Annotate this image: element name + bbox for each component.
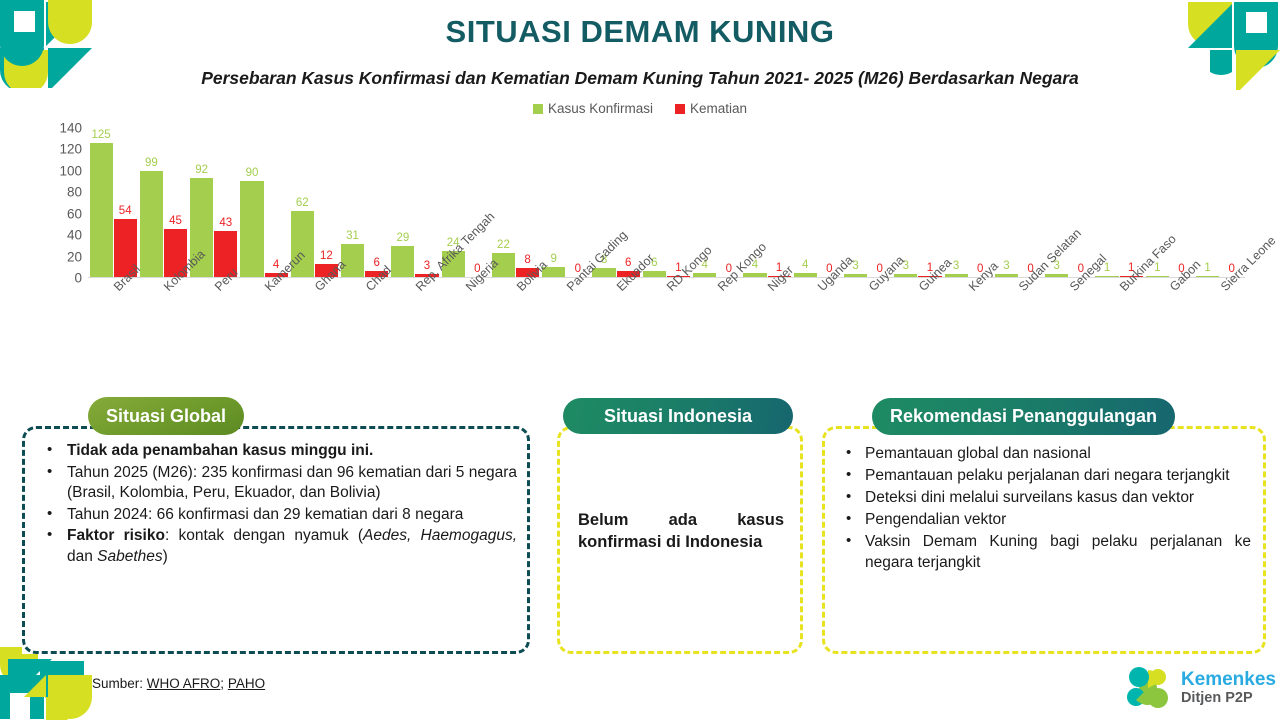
bar-confirmed[interactable]: 4: [794, 128, 817, 277]
x-axis-category: Kenya: [943, 280, 993, 366]
info-box-global-item: Tidak ada penambahan kasus minggu ini.: [39, 441, 517, 462]
bar-rect: [391, 246, 414, 277]
x-axis-category: Rep Kongo: [692, 280, 742, 366]
y-axis-tick: 100: [40, 163, 82, 178]
bar-deaths[interactable]: 0: [566, 128, 589, 277]
info-box-situasi-indonesia: Belum ada kasus konfirmasi di Indonesia …: [557, 426, 803, 654]
legend-item-deaths[interactable]: Kematian: [675, 101, 747, 116]
bar-value-label: 125: [91, 129, 110, 142]
bar-deaths[interactable]: 0: [1170, 128, 1193, 277]
bar-deaths[interactable]: 3: [415, 128, 438, 277]
bar-deaths[interactable]: 0: [717, 128, 740, 277]
item-plain-text: Tahun 2025 (M26): 235 konfirmasi dan 96 …: [67, 464, 517, 502]
info-box-global-body: Tidak ada penambahan kasus minggu ini.Ta…: [22, 426, 530, 654]
chart-category-group: 30: [842, 128, 892, 277]
bar-rect: [90, 143, 113, 277]
item-plain-text: ): [163, 548, 168, 565]
source-link-paho[interactable]: PAHO: [228, 676, 265, 691]
kemenkes-unit: Ditjen P2P: [1181, 691, 1276, 706]
item-italic-text: Aedes,: [363, 527, 411, 544]
x-axis-category: Brasil: [88, 280, 138, 366]
chart-category-group: 30: [943, 128, 993, 277]
chart-category-group: 31: [893, 128, 943, 277]
chart-category-group: 10: [1195, 128, 1245, 277]
bar-deaths[interactable]: 8: [516, 128, 539, 277]
y-axis-tick: 40: [40, 228, 82, 243]
bar-rect: [341, 244, 364, 277]
bar-rect: [240, 181, 263, 277]
bar-confirmed[interactable]: 1: [1196, 128, 1219, 277]
item-plain-text: Tahun 2024: 66 konfirmasi dan 29 kematia…: [67, 506, 463, 523]
bar-rect: [693, 273, 716, 277]
bar-rect: [1045, 274, 1068, 277]
bar-confirmed[interactable]: 22: [492, 128, 515, 277]
chart-category-group: 228: [490, 128, 540, 277]
x-axis: BrasilKolombiaPeruKamerunGhanaChadRep. A…: [88, 280, 1245, 366]
x-axis-category: Pantai Gading: [541, 280, 591, 366]
info-box-global-header: Situasi Global: [88, 397, 244, 435]
bar-deaths[interactable]: 1: [918, 128, 941, 277]
x-axis-category: Nigeria: [440, 280, 490, 366]
bar-value-label: 45: [169, 215, 182, 228]
kemenkes-name: Kemenkes: [1181, 670, 1276, 689]
bar-confirmed[interactable]: 9: [542, 128, 565, 277]
bar-value-label: 29: [396, 232, 409, 245]
page-title: SITUASI DEMAM KUNING: [0, 14, 1280, 50]
info-box-indonesia-text: Belum ada kasus konfirmasi di Indonesia: [578, 509, 784, 553]
bar-deaths[interactable]: 54: [114, 128, 137, 277]
item-plain-text: : kontak dengan nyamuk: [165, 527, 358, 544]
bar-deaths[interactable]: 4: [265, 128, 288, 277]
info-box-global-item: Tahun 2024: 66 konfirmasi dan 29 kematia…: [39, 505, 517, 526]
bar-value-label: 62: [296, 197, 309, 210]
bar-deaths[interactable]: 0: [818, 128, 841, 277]
x-axis-category: Uganda: [792, 280, 842, 366]
bar-rect: [894, 274, 917, 277]
info-box-rekomendasi-list: Pemantauan global dan nasionalPemantauan…: [837, 443, 1251, 573]
chart-category-group: 9945: [138, 128, 188, 277]
bar-value-label: 92: [195, 164, 208, 177]
info-box-rekomendasi-header: Rekomendasi Penanggulangan: [872, 398, 1175, 435]
legend-swatch-confirmed: [533, 104, 543, 114]
item-plain-text: [411, 527, 420, 544]
bar-value-label: 43: [219, 217, 232, 230]
info-box-rekomendasi-item: Deteksi dini melalui surveilans kasus da…: [837, 487, 1251, 508]
y-axis: 140120100806040200: [40, 128, 82, 278]
chart-subtitle: Persebaran Kasus Konfirmasi dan Kematian…: [0, 68, 1280, 89]
chart-category-group: 40: [792, 128, 842, 277]
y-axis-tick: 140: [40, 121, 82, 136]
bar-value-label: 22: [497, 239, 510, 252]
bar-value-label: 3: [1003, 260, 1009, 273]
bar-value-label: 54: [119, 205, 132, 218]
bar-value-label: 99: [145, 157, 158, 170]
info-box-rekomendasi-item: Pemantauan global dan nasional: [837, 443, 1251, 464]
y-axis-tick: 60: [40, 206, 82, 221]
x-axis-category: Rep. Afrika Tengah: [390, 280, 440, 366]
x-axis-category: Sudan Selatan: [993, 280, 1043, 366]
item-bold-text: Faktor risiko: [67, 527, 165, 544]
x-axis-category: Niger: [742, 280, 792, 366]
info-box-situasi-global: Tidak ada penambahan kasus minggu ini.Ta…: [22, 426, 530, 654]
bar-value-label: 3: [953, 260, 959, 273]
item-bold-text: Tidak ada penambahan kasus minggu ini.: [67, 442, 373, 459]
bar-value-label: 90: [246, 167, 259, 180]
bar-confirmed[interactable]: 3: [945, 128, 968, 277]
chart-category-group: 30: [993, 128, 1043, 277]
x-axis-category: Peru: [189, 280, 239, 366]
y-axis-tick: 120: [40, 142, 82, 157]
x-axis-category: Chad: [339, 280, 389, 366]
y-axis-tick: 80: [40, 185, 82, 200]
x-axis-category: Kamerun: [239, 280, 289, 366]
bar-rect: [794, 273, 817, 277]
chart-category-group: 293: [390, 128, 440, 277]
chart-category-group: 90: [541, 128, 591, 277]
bar-value-label: 4: [802, 259, 808, 272]
bar-deaths[interactable]: 6: [617, 128, 640, 277]
bar-value-label: 9: [551, 253, 557, 266]
bar-deaths[interactable]: 0: [868, 128, 891, 277]
bar-deaths[interactable]: 0: [969, 128, 992, 277]
bar-rect: [1196, 276, 1219, 277]
source-line: Sumber: WHO AFRO; PAHO: [92, 676, 265, 691]
bar-deaths[interactable]: 12: [315, 128, 338, 277]
info-box-global-item: Tahun 2025 (M26): 235 konfirmasi dan 96 …: [39, 463, 517, 504]
item-plain-text: dan: [67, 548, 97, 565]
bar-confirmed[interactable]: 99: [140, 128, 163, 277]
bar-confirmed[interactable]: 29: [391, 128, 414, 277]
legend-swatch-deaths: [675, 104, 685, 114]
legend-item-confirmed[interactable]: Kasus Konfirmasi: [533, 101, 653, 116]
bar-deaths[interactable]: 45: [164, 128, 187, 277]
info-box-rekomendasi-body: Pemantauan global dan nasionalPemantauan…: [822, 426, 1266, 654]
x-axis-category: Sierra Leone: [1195, 280, 1245, 366]
bar-rect: [140, 171, 163, 277]
chart-category-group: 904: [239, 128, 289, 277]
info-box-rekomendasi-item: Pemantauan pelaku perjalanan dari negara…: [837, 465, 1251, 486]
info-box-indonesia-header: Situasi Indonesia: [563, 398, 793, 434]
kemenkes-wordmark: Kemenkes Ditjen P2P: [1181, 670, 1276, 706]
bar-deaths[interactable]: 0: [1069, 128, 1092, 277]
bar-confirmed[interactable]: 90: [240, 128, 263, 277]
source-label: Sumber:: [92, 676, 143, 691]
bar-deaths[interactable]: 0: [466, 128, 489, 277]
chart-plot-area: 1255499459243904621231629324022890866140…: [88, 128, 1245, 278]
chart-legend: Kasus Konfirmasi Kematian: [0, 101, 1280, 116]
legend-label-deaths: Kematian: [690, 101, 747, 116]
info-box-rekomendasi-item: Pengendalian vektor: [837, 509, 1251, 530]
info-box-indonesia-body: Belum ada kasus konfirmasi di Indonesia: [557, 426, 803, 654]
bar-value-label: 1: [1204, 262, 1210, 275]
x-axis-category: RD Kongo: [641, 280, 691, 366]
y-axis-tick: 20: [40, 249, 82, 264]
info-box-global-item: Faktor risiko: kontak dengan nyamuk (Aed…: [39, 526, 517, 567]
item-italic-text: Sabethes: [97, 548, 163, 565]
chart-category-group: 12554: [88, 128, 138, 277]
bar-rect: [844, 274, 867, 277]
info-box-rekomendasi-item: Vaksin Demam Kuning bagi pelaku perjalan…: [837, 531, 1251, 573]
bar-deaths[interactable]: 6: [365, 128, 388, 277]
bar-value-label: 8: [524, 254, 530, 267]
bar-deaths[interactable]: 1: [1120, 128, 1143, 277]
x-axis-category: Guinea: [893, 280, 943, 366]
info-box-global-list: Tidak ada penambahan kasus minggu ini.Ta…: [39, 441, 517, 567]
x-axis-category: Burkina Faso: [1094, 280, 1144, 366]
source-link-who-afro[interactable]: WHO AFRO: [147, 676, 221, 691]
info-box-rekomendasi: Pemantauan global dan nasionalPemantauan…: [822, 426, 1266, 654]
bar-confirmed[interactable]: 31: [341, 128, 364, 277]
y-axis-tick: 0: [40, 271, 82, 286]
bar-rect: [995, 274, 1018, 277]
bar-value-label: 12: [320, 250, 333, 263]
bar-deaths[interactable]: 0: [1019, 128, 1042, 277]
x-axis-category: Gabon: [1144, 280, 1194, 366]
x-axis-category: Senegal: [1044, 280, 1094, 366]
kemenkes-logo: Kemenkes Ditjen P2P: [1122, 664, 1276, 712]
x-axis-category: Ekuador: [591, 280, 641, 366]
x-axis-category: Kolombia: [138, 280, 188, 366]
source-separator: ;: [220, 676, 224, 691]
kemenkes-flower-icon: [1122, 664, 1174, 712]
bar-deaths[interactable]: 1: [667, 128, 690, 277]
x-axis-category: Bolivia: [490, 280, 540, 366]
bar-deaths[interactable]: 0: [1220, 128, 1243, 277]
bar-chart: 140120100806040200 125549945924390462123…: [40, 128, 1245, 368]
x-axis-category: Ghana: [289, 280, 339, 366]
bar-deaths[interactable]: 43: [214, 128, 237, 277]
bar-confirmed[interactable]: 3: [995, 128, 1018, 277]
x-axis-category: Guyana: [842, 280, 892, 366]
legend-label-confirmed: Kasus Konfirmasi: [548, 101, 653, 116]
item-italic-text: Haemogagus,: [421, 527, 518, 544]
bar-value-label: 31: [346, 230, 359, 243]
bar-rect: [1095, 276, 1118, 277]
bar-rect: [1146, 276, 1169, 277]
bar-rect: [945, 274, 968, 277]
bar-deaths[interactable]: 1: [768, 128, 791, 277]
bar-confirmed[interactable]: 125: [90, 128, 113, 277]
bar-rect: [743, 273, 766, 277]
chart-category-group: 316: [339, 128, 389, 277]
